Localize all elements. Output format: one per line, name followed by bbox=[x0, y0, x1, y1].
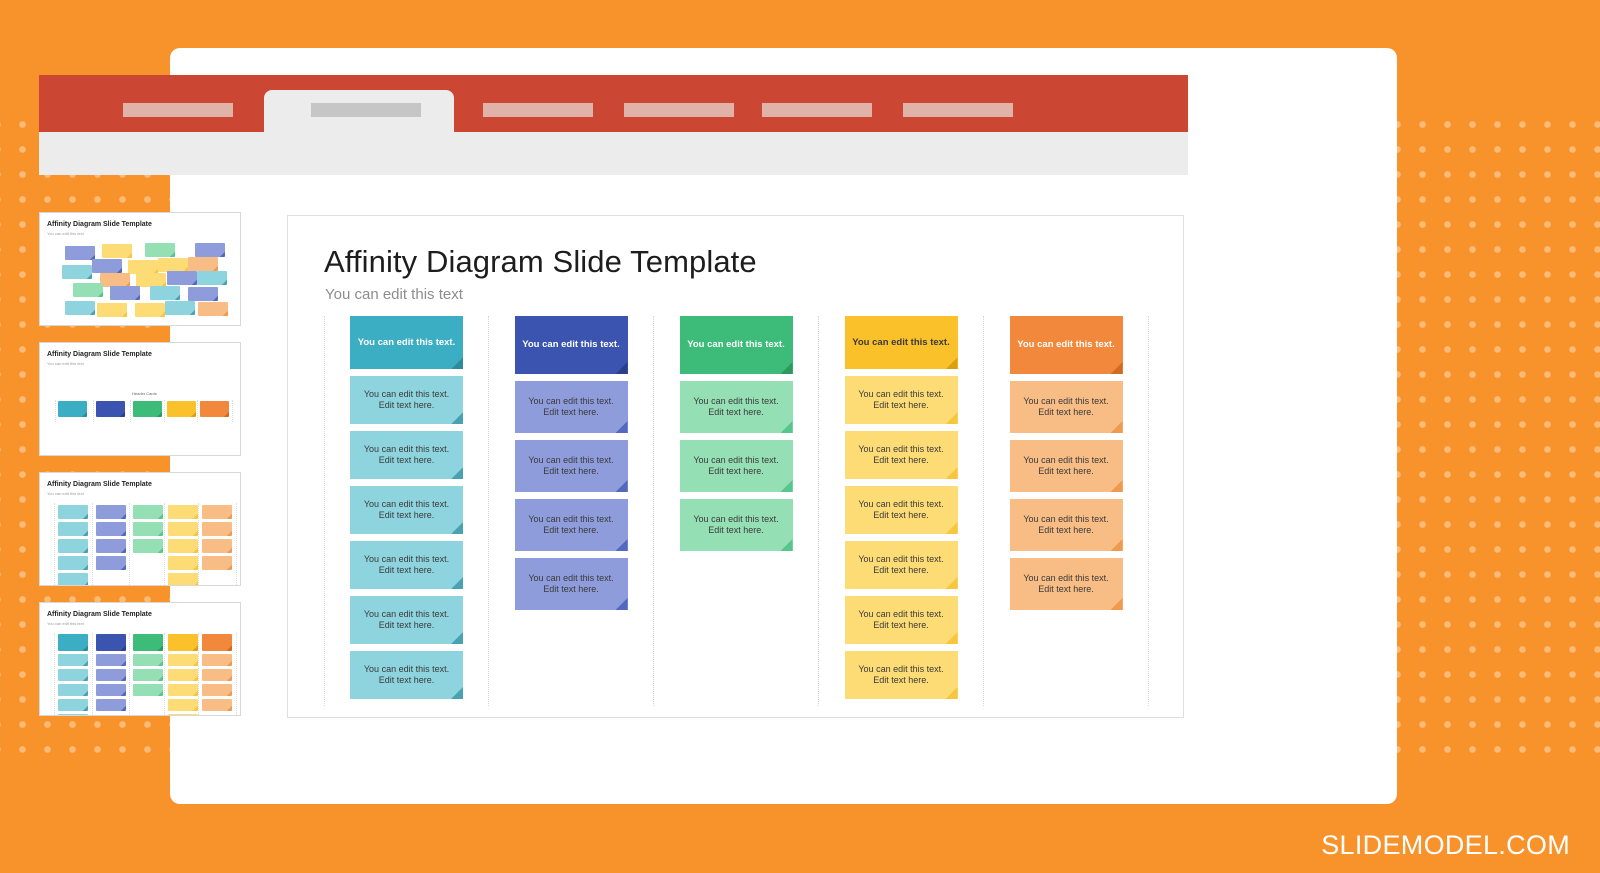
header-card-orange[interactable]: You can edit this text. bbox=[1010, 316, 1123, 374]
thumbnail-note bbox=[168, 654, 198, 666]
thumbnail-note bbox=[188, 287, 218, 301]
body-card-blue-1[interactable]: You can edit this text. Edit text here. bbox=[515, 381, 628, 433]
thumbnail-column-separator bbox=[236, 633, 237, 716]
thumbnail-note bbox=[128, 260, 158, 274]
thumbnail-note bbox=[96, 401, 125, 417]
body-card-teal-5[interactable]: You can edit this text. Edit text here. bbox=[350, 596, 463, 644]
thumbnail-column-separator bbox=[164, 633, 165, 716]
thumbnail-note bbox=[202, 556, 232, 570]
body-card-orange-3[interactable]: You can edit this text. Edit text here. bbox=[1010, 499, 1123, 551]
thumbnail-note bbox=[110, 286, 140, 300]
body-card-yellow-3[interactable]: You can edit this text. Edit text here. bbox=[845, 486, 958, 534]
slide-thumbnail-1[interactable]: Affinity Diagram Slide Template You can … bbox=[39, 212, 241, 326]
thumbnail-note bbox=[202, 505, 232, 519]
app-toolbar bbox=[39, 132, 1188, 175]
thumbnail-column-separator bbox=[130, 400, 131, 422]
body-card-yellow-4[interactable]: You can edit this text. Edit text here. bbox=[845, 541, 958, 589]
thumbnail-note bbox=[73, 283, 103, 297]
thumbnail-subtitle: You can edit this text bbox=[47, 231, 84, 236]
thumbnail-column-separator bbox=[129, 633, 130, 716]
thumbnail-note bbox=[133, 684, 163, 696]
body-card-yellow-2[interactable]: You can edit this text. Edit text here. bbox=[845, 431, 958, 479]
affinity-column-green: You can edit this text.You can edit this… bbox=[654, 316, 819, 706]
body-card-orange-1[interactable]: You can edit this text. Edit text here. bbox=[1010, 381, 1123, 433]
thumbnail-note bbox=[202, 634, 232, 651]
thumbnail-note bbox=[96, 654, 126, 666]
thumbnail-column-separator bbox=[55, 400, 56, 422]
thumbnail-note bbox=[150, 286, 180, 300]
thumbnail-note bbox=[133, 634, 163, 651]
body-card-teal-2[interactable]: You can edit this text. Edit text here. bbox=[350, 431, 463, 479]
thumbnail-note bbox=[202, 654, 232, 666]
thumbnail-title: Affinity Diagram Slide Template bbox=[47, 351, 152, 358]
thumbnail-column-separator bbox=[232, 400, 233, 422]
body-card-teal-4[interactable]: You can edit this text. Edit text here. bbox=[350, 541, 463, 589]
thumbnail-note bbox=[167, 271, 197, 285]
thumbnail-note bbox=[62, 265, 92, 279]
body-card-yellow-5[interactable]: You can edit this text. Edit text here. bbox=[845, 596, 958, 644]
thumbnail-note bbox=[58, 539, 88, 553]
slide-thumbnail-2[interactable]: Affinity Diagram Slide Template You can … bbox=[39, 342, 241, 456]
thumbnail-subtitle: You can edit this text bbox=[47, 621, 84, 626]
thumbnail-note bbox=[133, 505, 163, 519]
thumbnail-note bbox=[168, 505, 198, 519]
thumbnail-subtitle: You can edit this text bbox=[47, 491, 84, 496]
tab-placeholder-4[interactable] bbox=[624, 103, 734, 117]
thumbnail-note bbox=[202, 522, 232, 536]
thumbnail-note bbox=[92, 259, 122, 273]
thumbnail-column-separator bbox=[92, 633, 93, 716]
thumbnail-note bbox=[158, 258, 188, 272]
slide-title[interactable]: Affinity Diagram Slide Template bbox=[324, 244, 757, 280]
thumbnail-column-separator bbox=[54, 503, 55, 586]
thumbnail-column-separator bbox=[236, 503, 237, 586]
thumbnail-column-separator bbox=[54, 633, 55, 716]
thumbnail-column-separator bbox=[129, 503, 130, 586]
thumbnail-note bbox=[58, 401, 87, 417]
active-tab-label-placeholder bbox=[311, 103, 421, 117]
thumbnail-note bbox=[96, 699, 126, 711]
thumbnail-column-separator bbox=[197, 400, 198, 422]
thumbnail-note bbox=[168, 556, 198, 570]
thumbnail-note bbox=[168, 539, 198, 553]
thumbnail-title: Affinity Diagram Slide Template bbox=[47, 481, 152, 488]
thumbnail-column-separator bbox=[164, 503, 165, 586]
body-card-yellow-1[interactable]: You can edit this text. Edit text here. bbox=[845, 376, 958, 424]
thumbnail-column-separator bbox=[198, 503, 199, 586]
thumbnail-note bbox=[58, 669, 88, 681]
body-card-green-1[interactable]: You can edit this text. Edit text here. bbox=[680, 381, 793, 433]
watermark: SLIDEMODEL.COM bbox=[1321, 830, 1570, 861]
thumbnail-note bbox=[168, 634, 198, 651]
thumbnail-note bbox=[202, 699, 232, 711]
thumbnail-note bbox=[58, 634, 88, 651]
thumbnail-note bbox=[165, 301, 195, 315]
slide-subtitle[interactable]: You can edit this text bbox=[325, 286, 463, 303]
thumbnail-title: Affinity Diagram Slide Template bbox=[47, 221, 152, 228]
body-card-blue-3[interactable]: You can edit this text. Edit text here. bbox=[515, 499, 628, 551]
body-card-blue-2[interactable]: You can edit this text. Edit text here. bbox=[515, 440, 628, 492]
tab-placeholder-5[interactable] bbox=[762, 103, 872, 117]
thumbnail-note bbox=[58, 654, 88, 666]
thumbnail-note bbox=[96, 556, 126, 570]
thumbnail-note bbox=[168, 714, 198, 716]
thumbnail-note bbox=[58, 684, 88, 696]
thumbnail-note bbox=[168, 669, 198, 681]
thumbnail-note bbox=[58, 699, 88, 711]
thumbnail-note bbox=[167, 401, 196, 417]
body-card-orange-2[interactable]: You can edit this text. Edit text here. bbox=[1010, 440, 1123, 492]
affinity-column-yellow: You can edit this text.You can edit this… bbox=[819, 316, 984, 706]
thumbnail-note bbox=[97, 303, 127, 317]
thumbnail-note bbox=[96, 505, 126, 519]
thumbnail-note bbox=[100, 273, 130, 287]
thumbnail-note bbox=[133, 654, 163, 666]
thumbnail-subtitle: You can edit this text bbox=[47, 361, 84, 366]
slide-thumbnail-3[interactable]: Affinity Diagram Slide Template You can … bbox=[39, 472, 241, 586]
thumbnail-note bbox=[96, 684, 126, 696]
body-card-orange-4[interactable]: You can edit this text. Edit text here. bbox=[1010, 558, 1123, 610]
slide-thumbnail-rail[interactable]: Affinity Diagram Slide Template You can … bbox=[39, 212, 241, 732]
thumbnail-note bbox=[202, 539, 232, 553]
affinity-column-blue: You can edit this text.You can edit this… bbox=[489, 316, 654, 706]
thumbnail-note bbox=[198, 302, 228, 316]
affinity-columns: You can edit this text.You can edit this… bbox=[324, 316, 1149, 706]
thumbnail-header-cards-label: Header Cards bbox=[132, 391, 157, 396]
body-card-teal-1[interactable]: You can edit this text. Edit text here. bbox=[350, 376, 463, 424]
thumbnail-note bbox=[133, 539, 163, 553]
thumbnail-note bbox=[96, 522, 126, 536]
thumbnail-note bbox=[195, 243, 225, 257]
thumbnail-note bbox=[96, 634, 126, 651]
app-navbar bbox=[39, 75, 1188, 132]
body-card-yellow-6[interactable]: You can edit this text. Edit text here. bbox=[845, 651, 958, 699]
thumbnail-note bbox=[133, 401, 162, 417]
thumbnail-note bbox=[58, 522, 88, 536]
thumbnail-note bbox=[65, 246, 95, 260]
thumbnail-note bbox=[168, 684, 198, 696]
header-card-yellow[interactable]: You can edit this text. bbox=[845, 316, 958, 369]
thumbnail-column-separator bbox=[93, 400, 94, 422]
thumbnail-column-separator bbox=[164, 400, 165, 422]
thumbnail-column-separator bbox=[92, 503, 93, 586]
thumbnail-note bbox=[65, 301, 95, 315]
affinity-column-teal: You can edit this text.You can edit this… bbox=[324, 316, 489, 706]
thumbnail-note bbox=[102, 244, 132, 258]
thumbnail-note bbox=[58, 556, 88, 570]
thumbnail-note bbox=[136, 273, 166, 287]
thumbnail-note bbox=[202, 684, 232, 696]
header-card-green[interactable]: You can edit this text. bbox=[680, 316, 793, 374]
thumbnail-note bbox=[168, 522, 198, 536]
thumbnail-note bbox=[96, 669, 126, 681]
thumbnail-note bbox=[202, 669, 232, 681]
body-card-green-3[interactable]: You can edit this text. Edit text here. bbox=[680, 499, 793, 551]
thumbnail-note bbox=[58, 505, 88, 519]
thumbnail-note bbox=[168, 699, 198, 711]
thumbnail-note bbox=[133, 522, 163, 536]
thumbnail-note bbox=[58, 714, 88, 716]
header-card-blue[interactable]: You can edit this text. bbox=[515, 316, 628, 374]
header-card-teal[interactable]: You can edit this text. bbox=[350, 316, 463, 369]
thumbnail-note bbox=[58, 573, 88, 586]
thumbnail-note bbox=[197, 271, 227, 285]
slide-canvas[interactable]: Affinity Diagram Slide Template You can … bbox=[287, 215, 1184, 718]
thumbnail-column-separator bbox=[198, 633, 199, 716]
thumbnail-note bbox=[135, 303, 165, 317]
thumbnail-note bbox=[188, 257, 218, 271]
body-card-teal-6[interactable]: You can edit this text. Edit text here. bbox=[350, 651, 463, 699]
body-card-green-2[interactable]: You can edit this text. Edit text here. bbox=[680, 440, 793, 492]
thumbnail-note bbox=[145, 243, 175, 257]
tab-placeholder-6[interactable] bbox=[903, 103, 1013, 117]
slide-thumbnail-4[interactable]: Affinity Diagram Slide Template You can … bbox=[39, 602, 241, 716]
body-card-blue-4[interactable]: You can edit this text. Edit text here. bbox=[515, 558, 628, 610]
affinity-column-orange: You can edit this text.You can edit this… bbox=[984, 316, 1149, 706]
body-card-teal-3[interactable]: You can edit this text. Edit text here. bbox=[350, 486, 463, 534]
tab-placeholder-1[interactable] bbox=[123, 103, 233, 117]
tab-placeholder-3[interactable] bbox=[483, 103, 593, 117]
thumbnail-note bbox=[200, 401, 229, 417]
thumbnail-note bbox=[168, 573, 198, 586]
thumbnail-title: Affinity Diagram Slide Template bbox=[47, 611, 152, 618]
thumbnail-note bbox=[96, 539, 126, 553]
thumbnail-note bbox=[133, 669, 163, 681]
